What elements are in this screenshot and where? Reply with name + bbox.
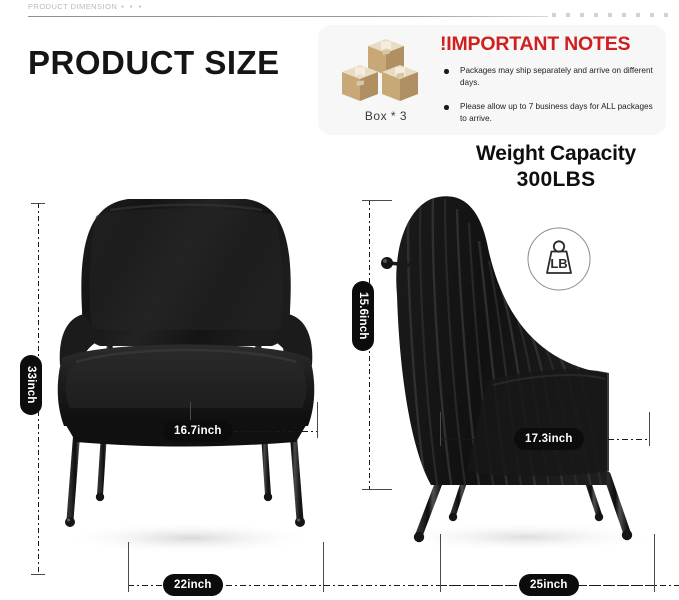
dimension-label-front-height: 33inch	[20, 355, 42, 415]
chair-front-view	[40, 190, 330, 565]
breadcrumb: PRODUCT DIMENSION• • •	[28, 2, 143, 11]
dimension-cap-top	[31, 203, 45, 204]
boxes-icon	[334, 33, 438, 113]
header-divider	[28, 16, 548, 17]
breadcrumb-dots: • • •	[121, 2, 143, 11]
dimension-label-side-total-depth: 25inch	[519, 574, 579, 596]
dimension-cap-bottom	[31, 574, 45, 575]
breadcrumb-label: PRODUCT DIMENSION	[28, 2, 117, 11]
dimension-cap-left	[128, 542, 129, 592]
chair-front-illustration	[40, 190, 330, 565]
dimension-cap-right	[323, 542, 324, 592]
page-title: PRODUCT SIZE	[28, 44, 280, 82]
dimension-label-side-seat-height: 15.6inch	[352, 281, 374, 351]
dimension-label-front-total-width: 22inch	[163, 574, 223, 596]
note-item: Please allow up to 7 business days for A…	[442, 101, 660, 126]
chair-side-view	[375, 185, 665, 565]
product-dimension-infographic: PRODUCT DIMENSION• • • PRODUCT SIZE	[0, 0, 679, 600]
chair-side-illustration	[375, 185, 665, 565]
weight-capacity-title: Weight Capacity	[440, 142, 672, 166]
dimension-cap-top	[362, 200, 392, 201]
dimension-cap-right	[654, 534, 655, 592]
dimension-label-front-seat-width: 16.7inch	[163, 420, 233, 442]
dimension-cap-right	[317, 402, 318, 438]
dimension-cap-left	[440, 534, 441, 592]
dimension-cap-right	[649, 412, 650, 446]
box-count-label: Box * 3	[334, 109, 438, 123]
header-divider-dots	[552, 13, 672, 17]
dimension-label-side-seat-depth: 17.3inch	[514, 428, 584, 450]
shipping-boxes-illustration: Box * 3	[334, 33, 438, 129]
important-notes-card: Box * 3 !IMPORTANT NOTES Packages may sh…	[318, 25, 666, 135]
note-item: Packages may ship separately and arrive …	[442, 65, 660, 90]
notes-title: !IMPORTANT NOTES	[440, 33, 630, 56]
dimension-cap-left	[440, 412, 441, 446]
dimension-cap-bottom	[362, 489, 392, 490]
